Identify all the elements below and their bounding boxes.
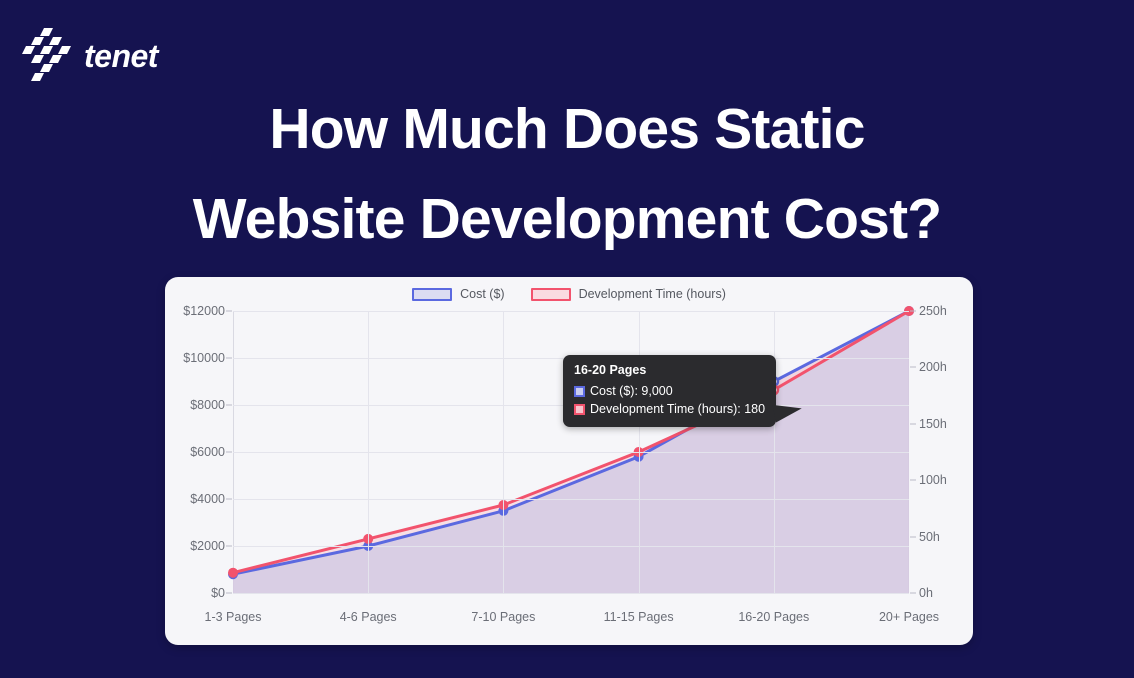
y-axis-left-label: $4000 bbox=[190, 492, 225, 506]
grid-line-vertical bbox=[639, 311, 640, 593]
y-axis-left-tick bbox=[226, 358, 232, 359]
y-axis-left-tick bbox=[226, 546, 232, 547]
y-axis-right-label: 150h bbox=[919, 417, 947, 431]
x-axis-label: 11-15 Pages bbox=[604, 610, 674, 624]
y-axis-right-tick bbox=[910, 593, 916, 594]
tooltip-swatch-cost-icon bbox=[574, 386, 585, 397]
legend-item-cost[interactable]: Cost ($) bbox=[412, 287, 504, 301]
grid-line-horizontal bbox=[233, 593, 909, 594]
y-axis-right-label: 200h bbox=[919, 360, 947, 374]
y-axis-left-tick bbox=[226, 499, 232, 500]
y-axis-right-tick bbox=[910, 480, 916, 481]
brand-name: tenet bbox=[84, 38, 158, 75]
y-axis-left-label: $10000 bbox=[183, 351, 225, 365]
y-axis-left-tick bbox=[226, 311, 232, 312]
legend-label-cost: Cost ($) bbox=[460, 287, 504, 301]
y-axis-left-label: $8000 bbox=[190, 398, 225, 412]
tooltip-label-development-time: Development Time (hours): 180 bbox=[590, 401, 765, 419]
grid-line-vertical bbox=[774, 311, 775, 593]
y-axis-left-label: $0 bbox=[211, 586, 225, 600]
grid-line-horizontal bbox=[233, 546, 909, 547]
y-axis-right-label: 50h bbox=[919, 530, 940, 544]
tenet-lattice-logo-icon bbox=[22, 28, 74, 84]
y-axis-left-tick bbox=[226, 405, 232, 406]
chart-card: Cost ($) Development Time (hours) $0$200… bbox=[165, 277, 973, 645]
grid-line-horizontal bbox=[233, 499, 909, 500]
y-axis-left-label: $12000 bbox=[183, 304, 225, 318]
legend-label-development-time: Development Time (hours) bbox=[579, 287, 726, 301]
x-axis-label: 7-10 Pages bbox=[471, 610, 535, 624]
brand-logo: tenet bbox=[22, 28, 158, 84]
page-title: How Much Does Static Website Development… bbox=[0, 84, 1134, 264]
chart-legend: Cost ($) Development Time (hours) bbox=[165, 287, 973, 301]
y-axis-right-tick bbox=[910, 311, 916, 312]
chart-data-point[interactable] bbox=[229, 569, 237, 577]
tooltip-title: 16-20 Pages bbox=[574, 362, 765, 380]
tooltip-label-cost: Cost ($): 9,000 bbox=[590, 383, 673, 401]
grid-line-horizontal bbox=[233, 311, 909, 312]
y-axis-left-tick bbox=[226, 452, 232, 453]
grid-line-horizontal bbox=[233, 452, 909, 453]
y-axis-left-tick bbox=[226, 593, 232, 594]
x-axis-label: 20+ Pages bbox=[879, 610, 939, 624]
y-axis-right-tick bbox=[910, 367, 916, 368]
grid-line-vertical bbox=[368, 311, 369, 593]
grid-line-vertical bbox=[503, 311, 504, 593]
y-axis-right-tick bbox=[910, 536, 916, 537]
x-axis-label: 16-20 Pages bbox=[738, 610, 809, 624]
legend-swatch-time-icon bbox=[531, 288, 571, 301]
y-axis-left-label: $6000 bbox=[190, 445, 225, 459]
y-axis-right-label: 0h bbox=[919, 586, 933, 600]
legend-item-development-time[interactable]: Development Time (hours) bbox=[531, 287, 726, 301]
tooltip-row-development-time: Development Time (hours): 180 bbox=[574, 401, 765, 419]
x-axis-label: 4-6 Pages bbox=[340, 610, 397, 624]
tooltip-row-cost: Cost ($): 9,000 bbox=[574, 383, 765, 401]
headline-line-2: Website Development Cost? bbox=[0, 174, 1134, 264]
y-axis-right-label: 100h bbox=[919, 473, 947, 487]
x-axis-label: 1-3 Pages bbox=[205, 610, 262, 624]
chart-tooltip: 16-20 Pages Cost ($): 9,000 Development … bbox=[563, 355, 776, 427]
y-axis-right-tick bbox=[910, 423, 916, 424]
headline-line-1: How Much Does Static bbox=[0, 84, 1134, 174]
y-axis-right-label: 250h bbox=[919, 304, 947, 318]
y-axis-left-label: $2000 bbox=[190, 539, 225, 553]
chart-plot-area[interactable]: $0$2000$4000$6000$8000$10000$120000h50h1… bbox=[233, 311, 909, 593]
legend-swatch-cost-icon bbox=[412, 288, 452, 301]
tooltip-swatch-time-icon bbox=[574, 404, 585, 415]
